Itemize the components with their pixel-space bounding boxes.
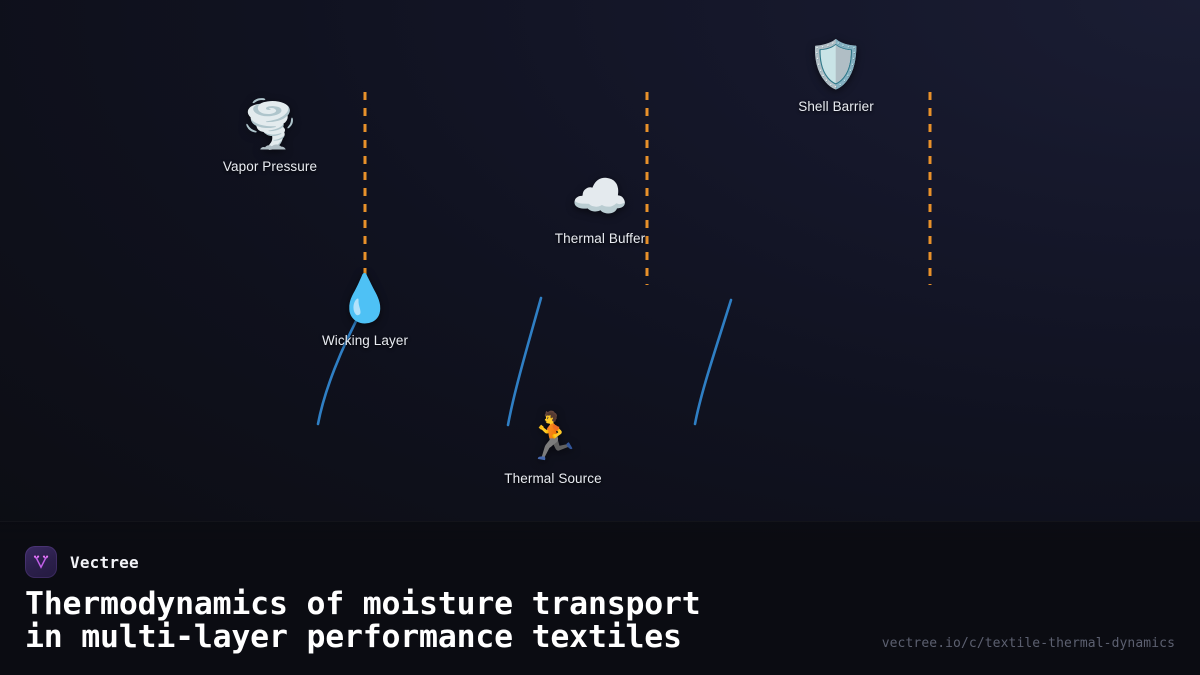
vectree-logo-icon [25, 546, 57, 578]
source-url: vectree.io/c/textile-thermal-dynamics [882, 636, 1175, 651]
diagram-node-wicking-layer[interactable]: 💧 Wicking Layer [322, 272, 408, 348]
page-title: Thermodynamics of moisture transport in … [25, 588, 701, 654]
cloud-icon: ☁️ [571, 170, 628, 222]
brand-row[interactable]: Vectree [25, 546, 139, 578]
diagram-node-label: Thermal Source [504, 471, 601, 486]
diagram-node-thermal-source[interactable]: 🏃 Thermal Source [504, 410, 601, 486]
diagram-node-shell-barrier[interactable]: 🛡️ Shell Barrier [798, 38, 874, 114]
diagram-node-label: Wicking Layer [322, 333, 408, 348]
shield-icon: 🛡️ [807, 38, 864, 90]
diagram-node-vapor-pressure[interactable]: 🌪️ Vapor Pressure [223, 98, 317, 174]
diagram-node-label: Shell Barrier [798, 99, 874, 114]
tornado-icon: 🌪️ [241, 98, 298, 150]
diagram-node-label: Thermal Buffer [555, 231, 645, 246]
runner-icon: 🏃 [524, 410, 581, 462]
water-droplet-icon: 💧 [336, 272, 393, 324]
brand-name: Vectree [70, 553, 139, 572]
diagram-node-label: Vapor Pressure [223, 159, 317, 174]
concept-card-canvas: 🌪️ Vapor Pressure 🛡️ Shell Barrier ☁️ Th… [0, 0, 1200, 675]
flow-curve-3 [695, 300, 731, 424]
dashed-lines-group [365, 92, 930, 285]
card-footer: Vectree Thermodynamics of moisture trans… [0, 521, 1200, 675]
flow-curve-2 [508, 298, 541, 425]
diagram-canvas: 🌪️ Vapor Pressure 🛡️ Shell Barrier ☁️ Th… [0, 0, 1200, 521]
diagram-node-thermal-buffer[interactable]: ☁️ Thermal Buffer [555, 170, 645, 246]
